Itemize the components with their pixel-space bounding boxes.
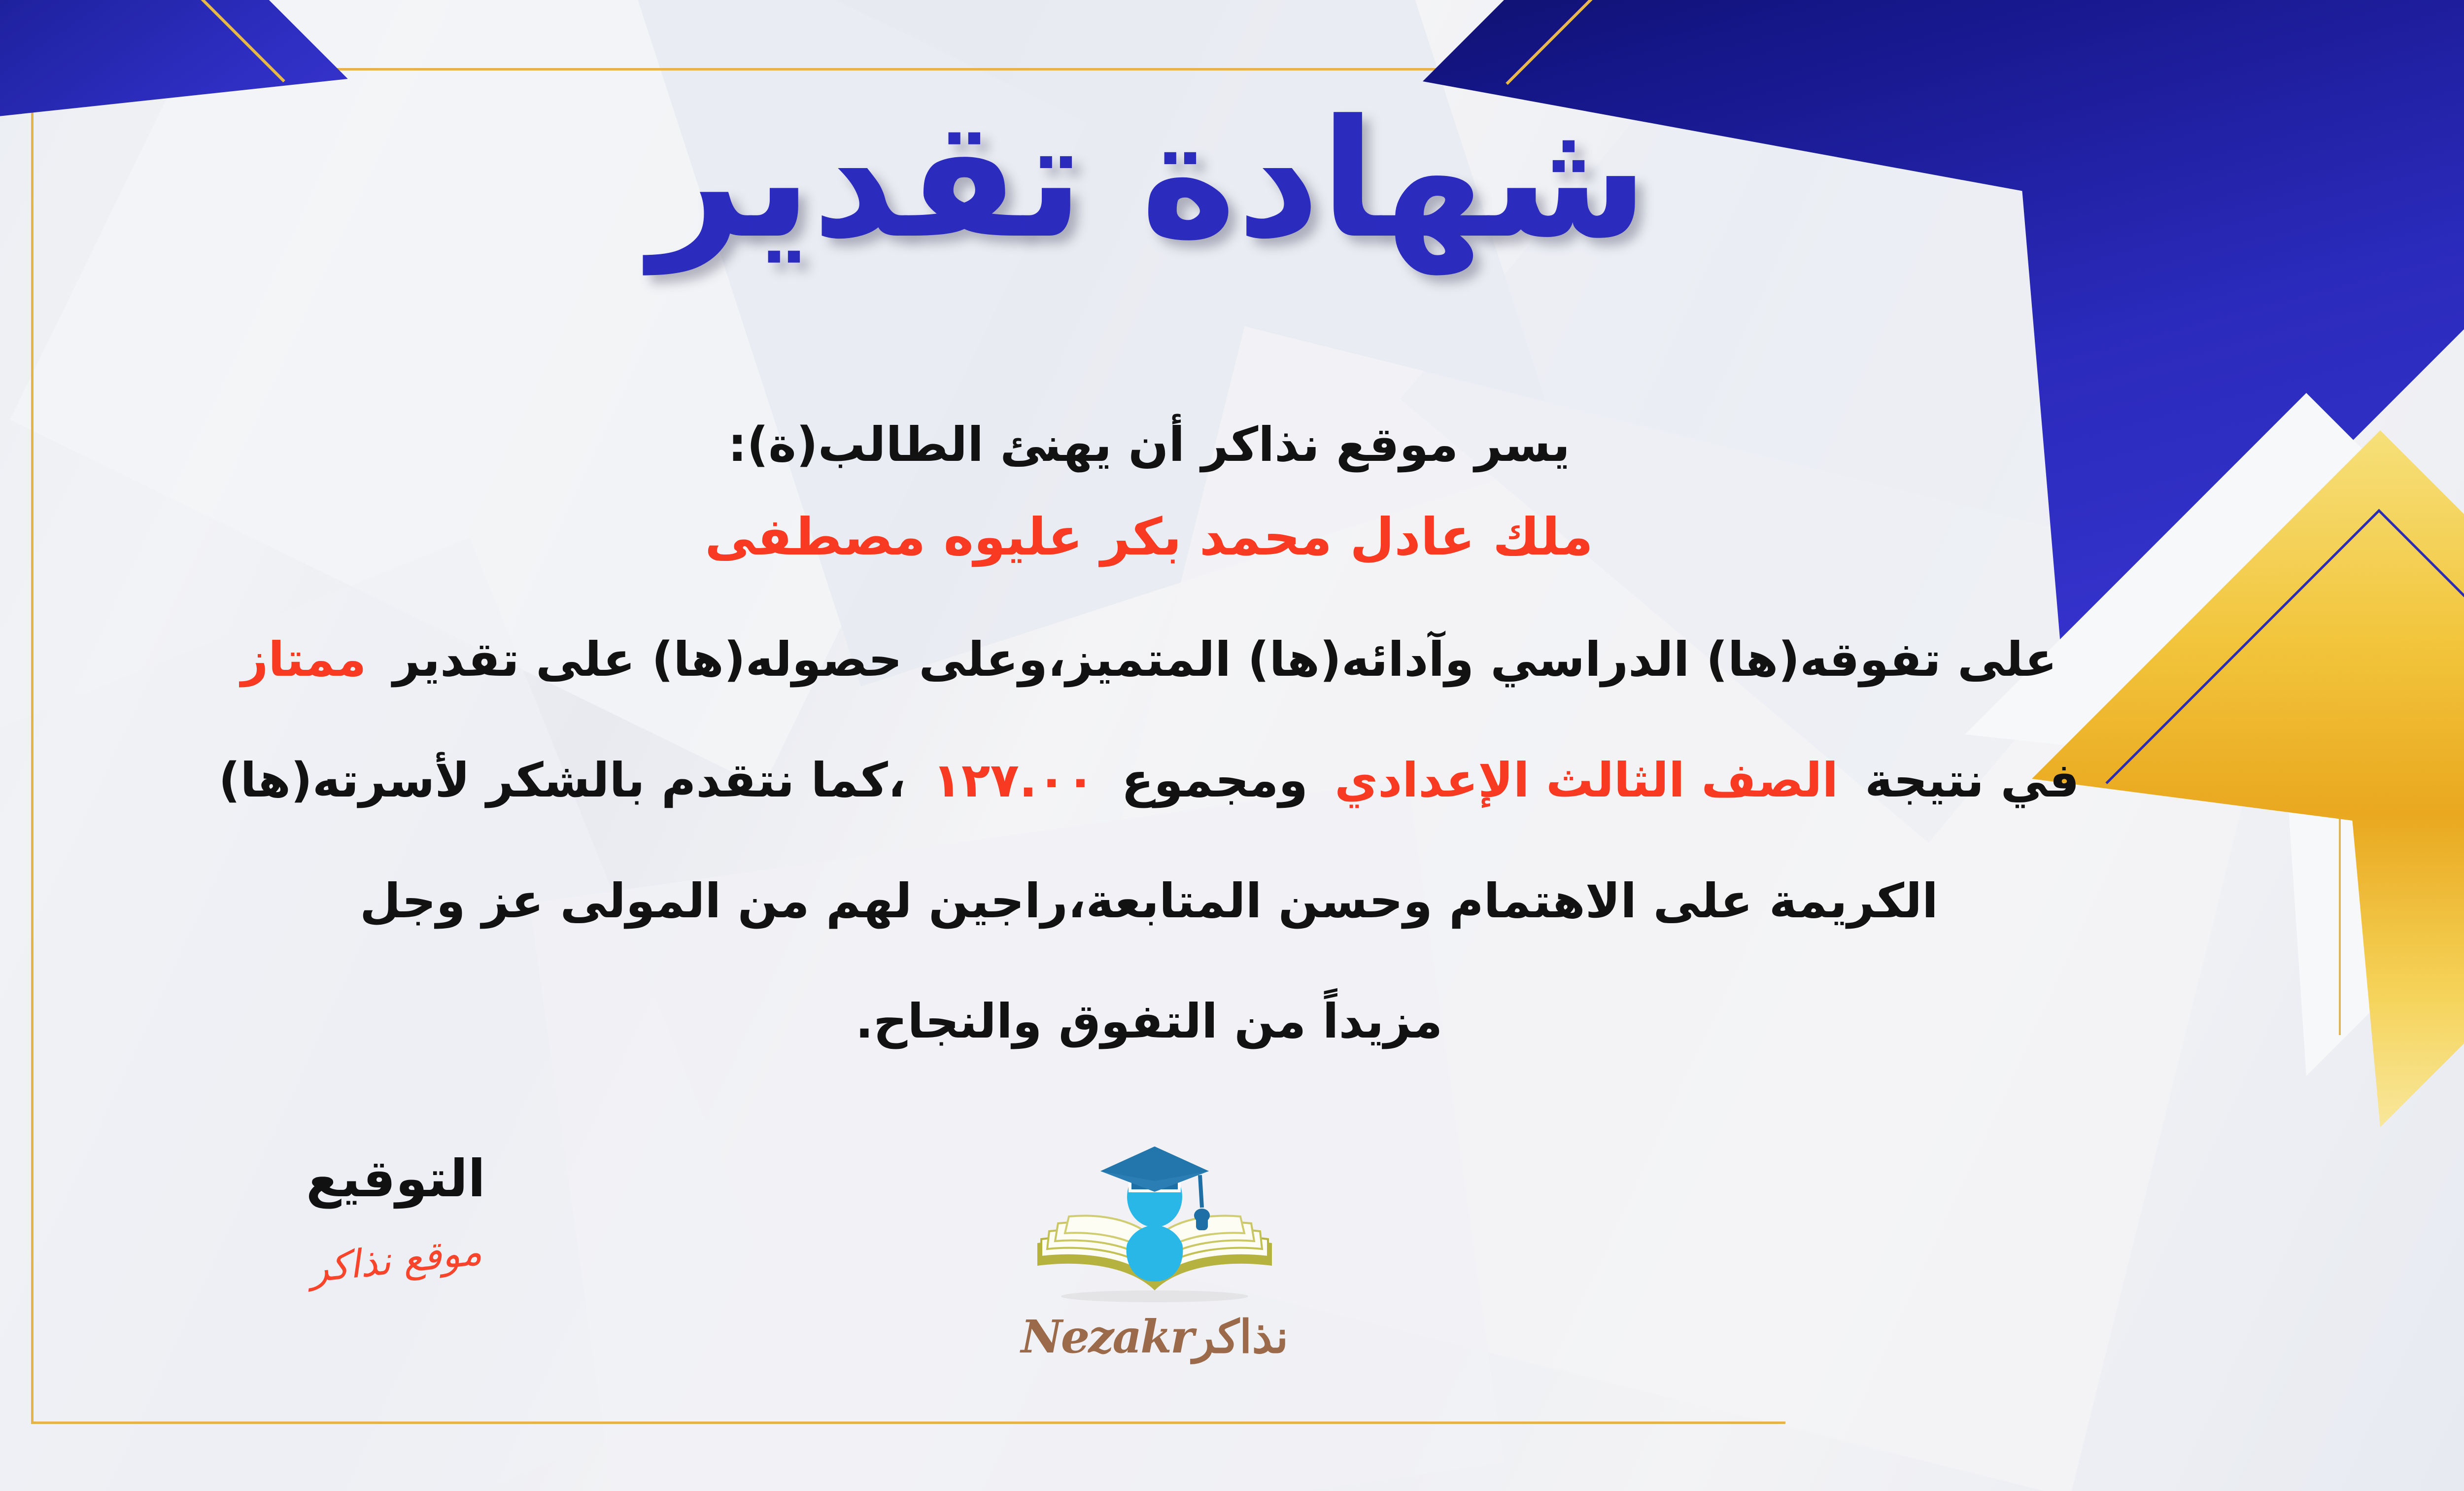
praise-text: على تفوقه(ها) الدراسي وآدائه(ها) المتميز… [393,632,2057,687]
logo-mark [1007,1134,1302,1306]
thanks-text: ،كما نتقدم بالشكر لأسرته(ها) [219,753,906,808]
site-logo: نذاكرNezakr [1007,1134,1302,1363]
intro-line: يسر موقع نذاكر أن يهنئ الطالب(ة): [41,409,2257,481]
signature-label: التوقيع [218,1148,573,1209]
certificate-canvas: شهادة تقدير يسر موقع نذاكر أن يهنئ الطال… [0,0,2464,1491]
graduate-book-icon [1007,1134,1302,1306]
logo-text-arabic: نذاكر [1193,1310,1288,1363]
stage-prefix: في نتيجة [1865,753,2079,808]
closing-line-2: مزيداً من التفوق والنجاح. [41,985,2257,1058]
praise-paragraph: على تفوقه(ها) الدراسي وآدائه(ها) المتميز… [41,623,2257,696]
logo-text-latin: Nezakr [1021,1310,1193,1363]
closing-line-1: الكريمة على الاهتمام وحسن المتابعة،راجين… [41,865,2257,938]
grade-value: ممتاز [241,632,366,687]
logo-wordmark: نذاكرNezakr [1007,1310,1302,1363]
total-value: ١٢٧.٠٠ [932,753,1095,808]
stage-paragraph: في نتيجةالصف الثالث الإعداديومجموع١٢٧.٠٠… [41,744,2257,817]
signature-block: التوقيع موقع نذاكر [218,1148,573,1283]
certificate-body: يسر موقع نذاكر أن يهنئ الطالب(ة): ملك عا… [41,409,2257,1106]
student-name: ملك عادل محمد بكر عليوه مصطفى [41,498,2257,576]
stage-value: الصف الثالث الإعدادي [1335,753,1838,808]
figure-body-icon [1127,1225,1183,1282]
signature-script: موقع نذاكر [308,1229,484,1291]
certificate-content: شهادة تقدير يسر موقع نذاكر أن يهنئ الطال… [0,0,2464,1491]
total-label: ومجموع [1122,753,1308,808]
certificate-title: شهادة تقدير [0,86,2464,274]
